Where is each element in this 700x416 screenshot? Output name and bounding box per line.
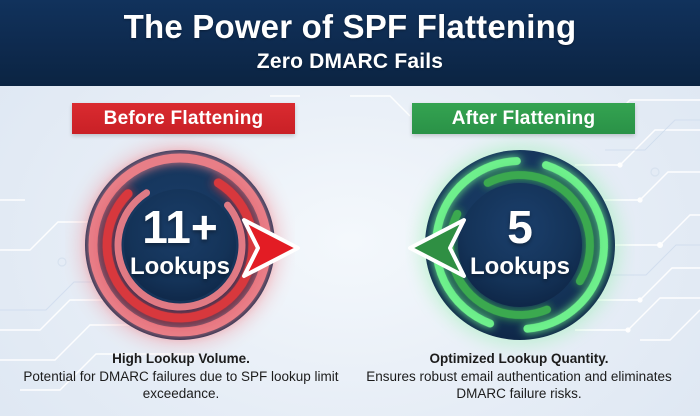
page-subtitle: Zero DMARC Fails: [0, 50, 700, 74]
infographic-root: The Power of SPF Flattening Zero DMARC F…: [0, 0, 700, 416]
caption-before-body: Potential for DMARC failures due to SPF …: [16, 368, 346, 402]
caption-before: High Lookup Volume. Potential for DMARC …: [16, 350, 346, 402]
caption-before-title: High Lookup Volume.: [16, 350, 346, 367]
arrow-left-icon: [404, 212, 470, 284]
caption-after-body: Ensures robust email authentication and …: [354, 368, 684, 402]
page-title: The Power of SPF Flattening: [0, 8, 700, 46]
header-banner: The Power of SPF Flattening Zero DMARC F…: [0, 0, 700, 86]
caption-after: Optimized Lookup Quantity. Ensures robus…: [354, 350, 684, 402]
arrow-right-icon: [238, 212, 304, 284]
caption-after-title: Optimized Lookup Quantity.: [354, 350, 684, 367]
